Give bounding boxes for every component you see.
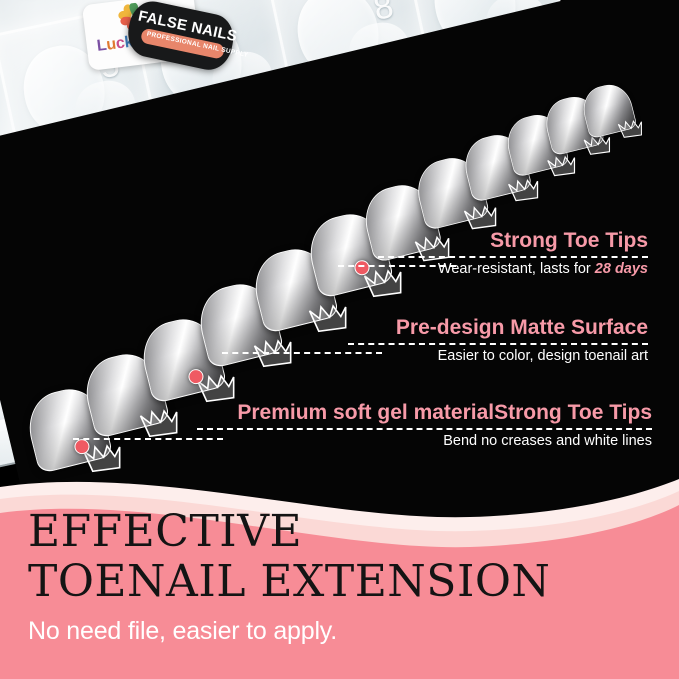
callout-title: Strong Toe Tips — [378, 228, 648, 253]
callout-title: Premium soft gel materialStrong Toe Tips — [197, 400, 652, 425]
banner-subtitle: No need file, easier to apply. — [28, 617, 658, 646]
callout-subtitle: Bend no creases and white lines — [197, 432, 652, 451]
callout-title: Pre-design Matte Surface — [348, 315, 648, 340]
product-infographic: 4 5 8 — [0, 0, 679, 679]
product-photo: 4 5 8 — [0, 0, 679, 520]
callout-sub-prefix: Bend no creases and white lines — [443, 433, 652, 449]
callout-divider — [378, 256, 648, 258]
callout-subtitle: Wear-resistant, lasts for 28 days — [378, 260, 648, 279]
callout-1: Strong Toe Tips Wear-resistant, lasts fo… — [378, 228, 648, 279]
banner-headline-line1: EFFECTIVE — [28, 507, 658, 557]
callout-sub-prefix: Easier to color, design toenail art — [438, 348, 648, 364]
callout-3: Premium soft gel materialStrong Toe Tips… — [197, 400, 652, 451]
bottom-banner: EFFECTIVE TOENAIL EXTENSION No need file… — [0, 479, 679, 679]
banner-text-block: EFFECTIVE TOENAIL EXTENSION No need file… — [28, 507, 658, 646]
callout-2: Pre-design Matte Surface Easier to color… — [348, 315, 648, 366]
callout-divider — [197, 428, 652, 430]
callout-divider — [348, 343, 648, 345]
nail-crown-tail-icon — [616, 116, 646, 142]
banner-headline-line2: TOENAIL EXTENSION — [28, 557, 658, 607]
callout-sub-prefix: Wear-resistant, lasts for — [438, 261, 595, 277]
callout-subtitle: Easier to color, design toenail art — [348, 347, 648, 366]
callout-sub-highlight: 28 days — [595, 261, 648, 277]
